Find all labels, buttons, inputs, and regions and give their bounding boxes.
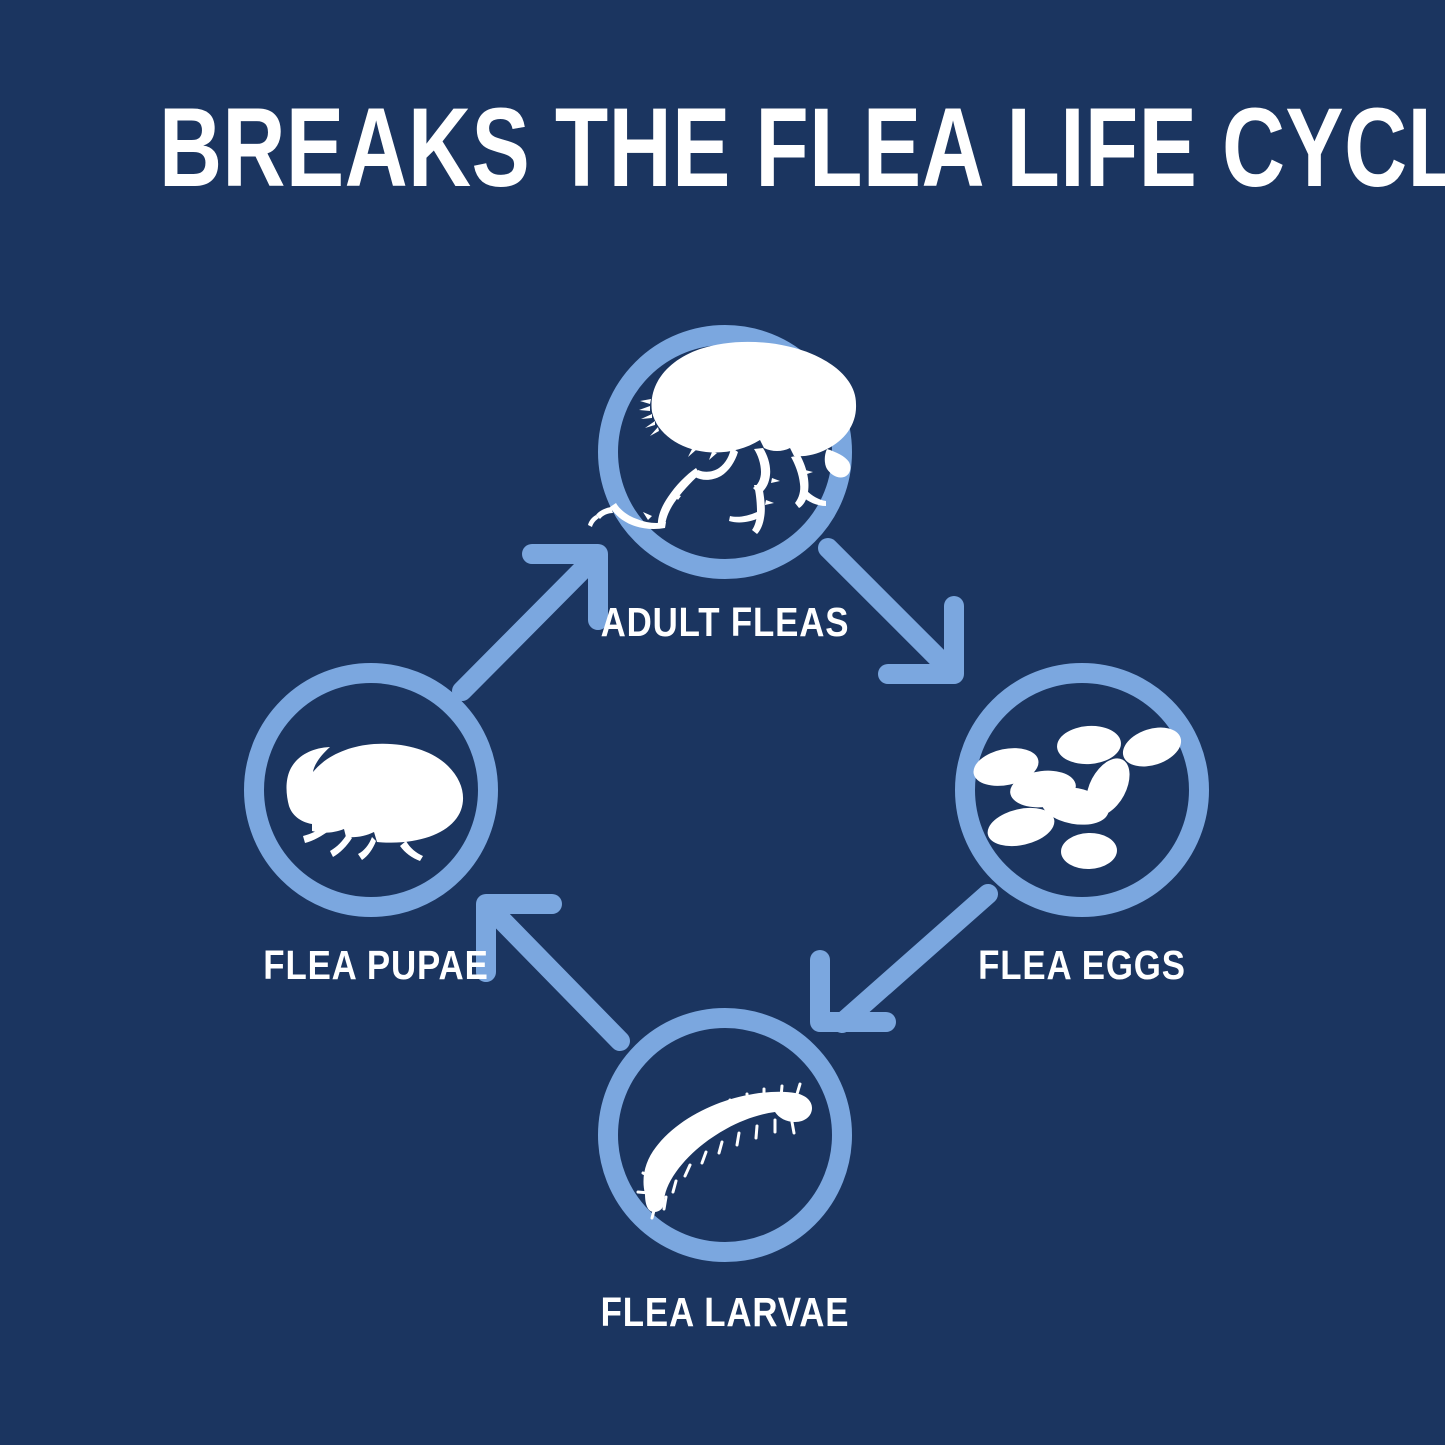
node-label-flea-eggs: FLEA EGGS <box>912 945 1252 986</box>
flea-larva-icon <box>638 1084 812 1218</box>
node-adult-fleas[interactable] <box>588 335 856 569</box>
node-flea-eggs[interactable] <box>965 673 1199 907</box>
flea-life-cycle-infographic: BREAKS THE FLEA LIFE CYCLE <box>0 0 1445 1445</box>
node-label-flea-larvae: FLEA LARVAE <box>555 1292 895 1333</box>
flea-pupa-icon <box>287 744 464 861</box>
node-circle-larvae <box>608 1018 842 1252</box>
cycle-nodes-layer <box>0 0 1445 1445</box>
flea-eggs-icon <box>970 721 1186 870</box>
node-flea-pupae[interactable] <box>254 673 488 907</box>
node-label-adult-fleas: ADULT FLEAS <box>555 602 895 643</box>
node-flea-larvae[interactable] <box>608 1018 842 1252</box>
node-label-flea-pupae: FLEA PUPAE <box>206 945 546 986</box>
